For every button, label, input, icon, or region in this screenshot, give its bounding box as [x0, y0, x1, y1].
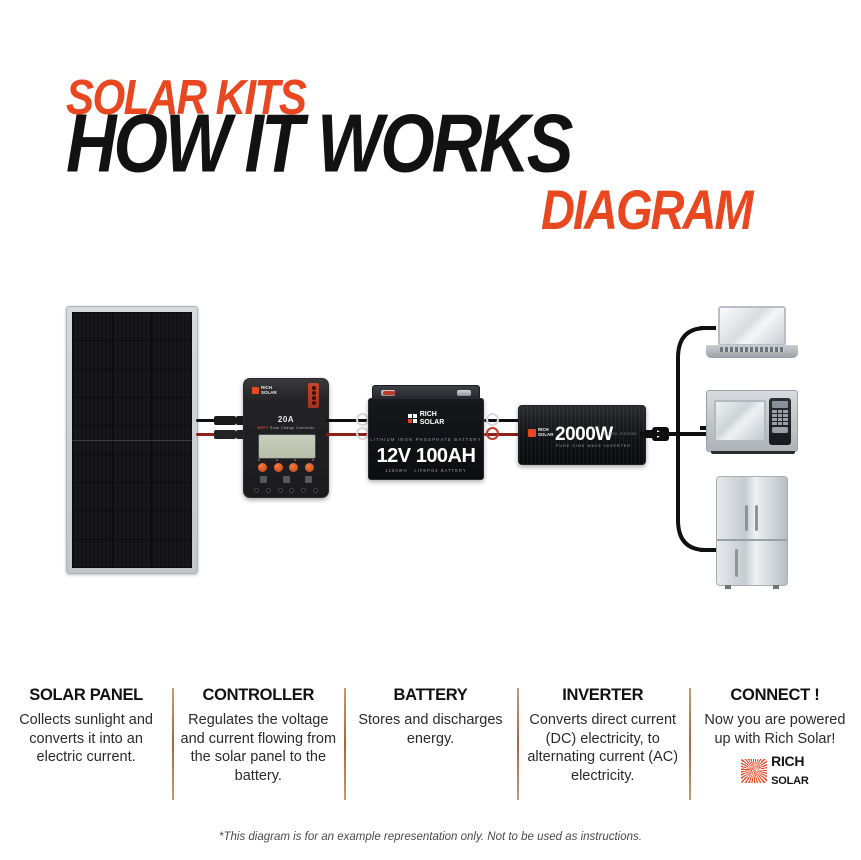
controller-button-row[interactable] [258, 463, 314, 472]
solar-cell [152, 540, 191, 567]
solar-cell [113, 511, 152, 538]
column-body: Stores and discharges energy. [352, 711, 508, 748]
diagram-area: RICH SOLAR 20A MPPT Solar Charge Control… [0, 250, 861, 670]
solar-cell [73, 313, 112, 340]
laptop-keyboard [720, 347, 784, 352]
microwave-display [772, 401, 788, 408]
solar-cell [152, 398, 191, 425]
solar-cell [113, 483, 152, 510]
solar-cell [113, 455, 152, 482]
laptop-graphic [706, 306, 798, 362]
solar-cell [152, 483, 191, 510]
column-connect: CONNECT ! Now you are powered up with Ri… [689, 686, 861, 816]
controller-amp-rating: 20A [244, 415, 328, 424]
battery-status-icon [283, 476, 290, 483]
solar-cell [113, 313, 152, 340]
solar-cell [152, 313, 191, 340]
controller-type-label: MPPT Solar Charge Controller [244, 426, 328, 430]
solar-panel-graphic [66, 306, 198, 574]
column-heading: INVERTER [525, 686, 681, 705]
column-body: Collects sunlight and converts it into a… [8, 711, 164, 767]
inverter-output-wire [640, 432, 678, 436]
column-body: Now you are powered up with Rich Solar! [697, 711, 853, 748]
controller-lcd-display [258, 434, 316, 459]
solar-cell [152, 511, 191, 538]
solar-diagram-page: SOLAR KITS HOW IT WORKS DIAGRAM [0, 0, 861, 860]
column-heading: CONTROLLER [180, 686, 336, 705]
column-inverter: INVERTER Converts direct current (DC) el… [517, 686, 689, 816]
column-body: Converts direct current (DC) electricity… [525, 711, 681, 785]
controller-led-row [258, 459, 314, 461]
inverter-subtitle: PURE SINE WAVE INVERTER [556, 444, 631, 448]
column-solar-panel: SOLAR PANEL Collects sunlight and conver… [0, 686, 172, 816]
appliance-trunk-cable [672, 306, 706, 574]
rich-solar-logo: RICH SOLAR [697, 753, 853, 789]
microwave-door [714, 400, 766, 442]
solar-cell [152, 370, 191, 397]
laptop-screen [718, 306, 786, 346]
battery-brand-solar: SOLAR [420, 419, 445, 426]
refrigerator-handle-upper-right [755, 505, 758, 531]
microwave-graphic [706, 390, 798, 452]
inverter-brand-solar: SOLAR [538, 432, 553, 437]
battery-chemistry-line: LITHIUM IRON PHOSPHATE BATTERY [369, 437, 483, 442]
rich-solar-mark-icon [252, 387, 259, 394]
microwave-control-panel [769, 398, 791, 445]
solar-cell [73, 455, 112, 482]
solar-cell [113, 398, 152, 425]
solar-cell [73, 398, 112, 425]
column-body: Regulates the voltage and current flowin… [180, 711, 336, 785]
explanation-columns: SOLAR PANEL Collects sunlight and conver… [0, 686, 861, 816]
solar-cell [113, 540, 152, 567]
logo-rich-text: RICH [771, 753, 804, 769]
solar-cell [152, 341, 191, 368]
load-status-icon [305, 476, 312, 483]
refrigerator-graphic [716, 476, 788, 586]
battery-terminal-positive [457, 390, 471, 396]
column-heading: SOLAR PANEL [8, 686, 164, 705]
solar-panel-busbar [72, 440, 192, 441]
solar-cell [152, 455, 191, 482]
title-diagram: DIAGRAM [541, 177, 752, 242]
logo-solar-text: SOLAR [771, 775, 809, 787]
controller-status-icons [260, 476, 312, 483]
title-how-it-works: HOW IT WORKS [66, 96, 570, 190]
refrigerator-foot-right [773, 585, 779, 589]
controller-terminal-block [308, 383, 319, 408]
controller-mppt-label: MPPT [257, 426, 268, 430]
battery-brand-rich: RICH [420, 411, 437, 418]
inverter-model-label: MODEL RS2000 [603, 432, 637, 436]
microwave-base [711, 451, 795, 454]
refrigerator-handle-lower [735, 549, 738, 577]
battery-graphic: RICH SOLAR LITHIUM IRON PHOSPHATE BATTER… [368, 385, 484, 480]
battery-terminal-negative-marker [383, 391, 395, 395]
refrigerator-foot-left [725, 585, 731, 589]
solar-cell [73, 511, 112, 538]
charge-controller-graphic: RICH SOLAR 20A MPPT Solar Charge Control… [243, 378, 329, 498]
column-battery: BATTERY Stores and discharges energy. [344, 686, 516, 816]
battery-rating: 12V 100AH [369, 445, 483, 468]
solar-cell [73, 341, 112, 368]
controller-type-rest: Solar Charge Controller [270, 426, 315, 430]
battery-spec-line: 1280WH · LIFEPO4 BATTERY [369, 468, 483, 473]
rich-solar-mark-icon [408, 414, 417, 423]
panel-status-icon [260, 476, 267, 483]
battery-brand-logo: RICH SOLAR [369, 411, 483, 426]
refrigerator-door-split [717, 539, 787, 541]
column-heading: CONNECT ! [697, 686, 853, 705]
battery-body: RICH SOLAR LITHIUM IRON PHOSPHATE BATTER… [368, 398, 484, 480]
controller-port-row [254, 488, 318, 493]
refrigerator-handle-upper-left [745, 505, 748, 531]
inverter-brand-logo: RICH SOLAR [528, 428, 553, 437]
solar-cell [73, 370, 112, 397]
column-heading: BATTERY [352, 686, 508, 705]
solar-cell [73, 540, 112, 567]
controller-brand-solar: SOLAR [261, 390, 277, 395]
microwave-start-button [772, 427, 788, 433]
microwave-keypad [772, 410, 788, 425]
sunburst-icon [741, 759, 767, 783]
inverter-graphic: RICH SOLAR 2000W PURE SINE WAVE INVERTER… [518, 405, 646, 465]
column-controller: CONTROLLER Regulates the voltage and cur… [172, 686, 344, 816]
controller-brand-logo: RICH SOLAR [252, 386, 277, 395]
solar-cell [113, 370, 152, 397]
title-block: SOLAR KITS HOW IT WORKS DIAGRAM [0, 32, 861, 222]
rich-solar-mark-icon [528, 429, 536, 437]
solar-cell [113, 341, 152, 368]
footnote: *This diagram is for an example represen… [0, 831, 861, 843]
solar-cell [73, 483, 112, 510]
